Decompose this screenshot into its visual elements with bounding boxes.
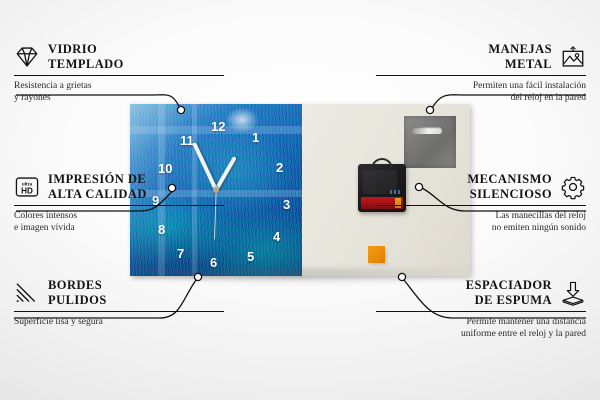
callout-description: Permiten una fácil instalación del reloj…	[376, 80, 586, 104]
callout-title: BORDES PULIDOS	[48, 278, 107, 308]
gear-icon	[560, 174, 586, 200]
title-line-2: SILENCIOSO	[470, 187, 552, 201]
callout-heading: VIDRIO TEMPLADO	[14, 42, 224, 72]
title-line-2: PULIDOS	[48, 293, 107, 307]
clock-numeral-11: 11	[180, 134, 194, 147]
callout-title: MANEJAS METAL	[488, 42, 552, 72]
callout-heading: MANEJAS METAL	[376, 42, 586, 72]
callout-description: Colores intensos e imagen vívida	[14, 210, 224, 234]
desc-line-1: Permiten una fácil instalación	[473, 81, 586, 91]
title-line-1: VIDRIO	[48, 42, 97, 56]
callout-rule	[376, 205, 586, 206]
callout-rule	[14, 205, 224, 206]
title-line-1: ESPACIADOR	[466, 278, 552, 292]
callout-heading: ESPACIADOR DE ESPUMA	[376, 278, 586, 308]
desc-line-2: y rayones	[14, 93, 51, 103]
title-line-1: BORDES	[48, 278, 102, 292]
title-line-2: METAL	[505, 57, 552, 71]
callout-description: Permite mantener una distancia uniforme …	[376, 316, 586, 340]
desc-line-2: e imagen vívida	[14, 223, 75, 233]
infographic-stage: 12 1 2 3 4 5 6 7 8 9 10 11	[0, 0, 600, 400]
callout-description: Superficie lisa y segura	[14, 316, 224, 328]
desc-line-1: Las manecillas del reloj	[496, 211, 586, 221]
callout-vidrio-templado: VIDRIO TEMPLADO Resistencia a grietas y …	[14, 42, 224, 104]
title-line-1: MANEJAS	[488, 42, 552, 56]
desc-line-1: Superficie lisa y segura	[14, 317, 103, 327]
callout-title: MECANISMO SILENCIOSO	[467, 172, 552, 202]
callout-title: VIDRIO TEMPLADO	[48, 42, 124, 72]
clock-numeral-2: 2	[276, 161, 283, 174]
callout-rule	[376, 311, 586, 312]
callout-title: IMPRESIÓN DE ALTA CALIDAD	[48, 172, 147, 202]
foam-spacer-icon	[560, 280, 586, 306]
callout-espaciador-espuma: ESPACIADOR DE ESPUMA Permite mantener un…	[376, 278, 586, 340]
clock-numeral-12: 12	[211, 120, 225, 133]
callout-manejas-metal: MANEJAS METAL Permiten una fácil instala…	[376, 42, 586, 104]
title-line-1: IMPRESIÓN DE	[48, 172, 146, 186]
title-line-2: TEMPLADO	[48, 57, 124, 71]
polished-edge-icon	[14, 280, 40, 306]
hanger-slot	[412, 127, 442, 134]
clock-numeral-5: 5	[247, 250, 254, 263]
metal-hanger-plate	[404, 116, 456, 168]
clock-numeral-3: 3	[283, 198, 290, 211]
title-line-2: DE ESPUMA	[475, 293, 552, 307]
callout-heading: ultra HD IMPRESIÓN DE ALTA CALIDAD	[14, 172, 224, 202]
callout-heading: BORDES PULIDOS	[14, 278, 224, 308]
callout-rule	[14, 311, 224, 312]
desc-line-2: del reloj en la pared	[511, 93, 586, 103]
picture-frame-icon	[560, 44, 586, 70]
clock-numeral-4: 4	[273, 230, 280, 243]
clock-numeral-7: 7	[177, 247, 184, 260]
ultra-hd-icon: ultra HD	[14, 174, 40, 200]
desc-line-1: Permite mantener una distancia	[467, 317, 587, 327]
desc-line-2: uniforme entre el reloj y la pared	[461, 329, 586, 339]
callout-mecanismo-silencioso: MECANISMO SILENCIOSO Las manecillas del …	[376, 172, 586, 234]
foam-spacer	[368, 246, 385, 263]
desc-line-1: Colores intensos	[14, 211, 77, 221]
clock-numeral-1: 1	[252, 131, 259, 144]
callout-heading: MECANISMO SILENCIOSO	[376, 172, 586, 202]
callout-bordes-pulidos: BORDES PULIDOS Superficie lisa y segura	[14, 278, 224, 328]
title-line-2: ALTA CALIDAD	[48, 187, 147, 201]
diamond-icon	[14, 44, 40, 70]
svg-text:HD: HD	[21, 187, 33, 196]
callout-title: ESPACIADOR DE ESPUMA	[466, 278, 552, 308]
callout-description: Resistencia a grietas y rayones	[14, 80, 224, 104]
callout-rule	[14, 75, 224, 76]
callout-impresion-alta-calidad: ultra HD IMPRESIÓN DE ALTA CALIDAD Color…	[14, 172, 224, 234]
desc-line-2: no emiten ningún sonido	[492, 223, 586, 233]
title-line-1: MECANISMO	[467, 172, 552, 186]
callout-description: Las manecillas del reloj no emiten ningú…	[376, 210, 586, 234]
clock-numeral-6: 6	[210, 256, 217, 269]
desc-line-1: Resistencia a grietas	[14, 81, 92, 91]
callout-rule	[376, 75, 586, 76]
mechanism-hanging-loop	[371, 158, 393, 169]
